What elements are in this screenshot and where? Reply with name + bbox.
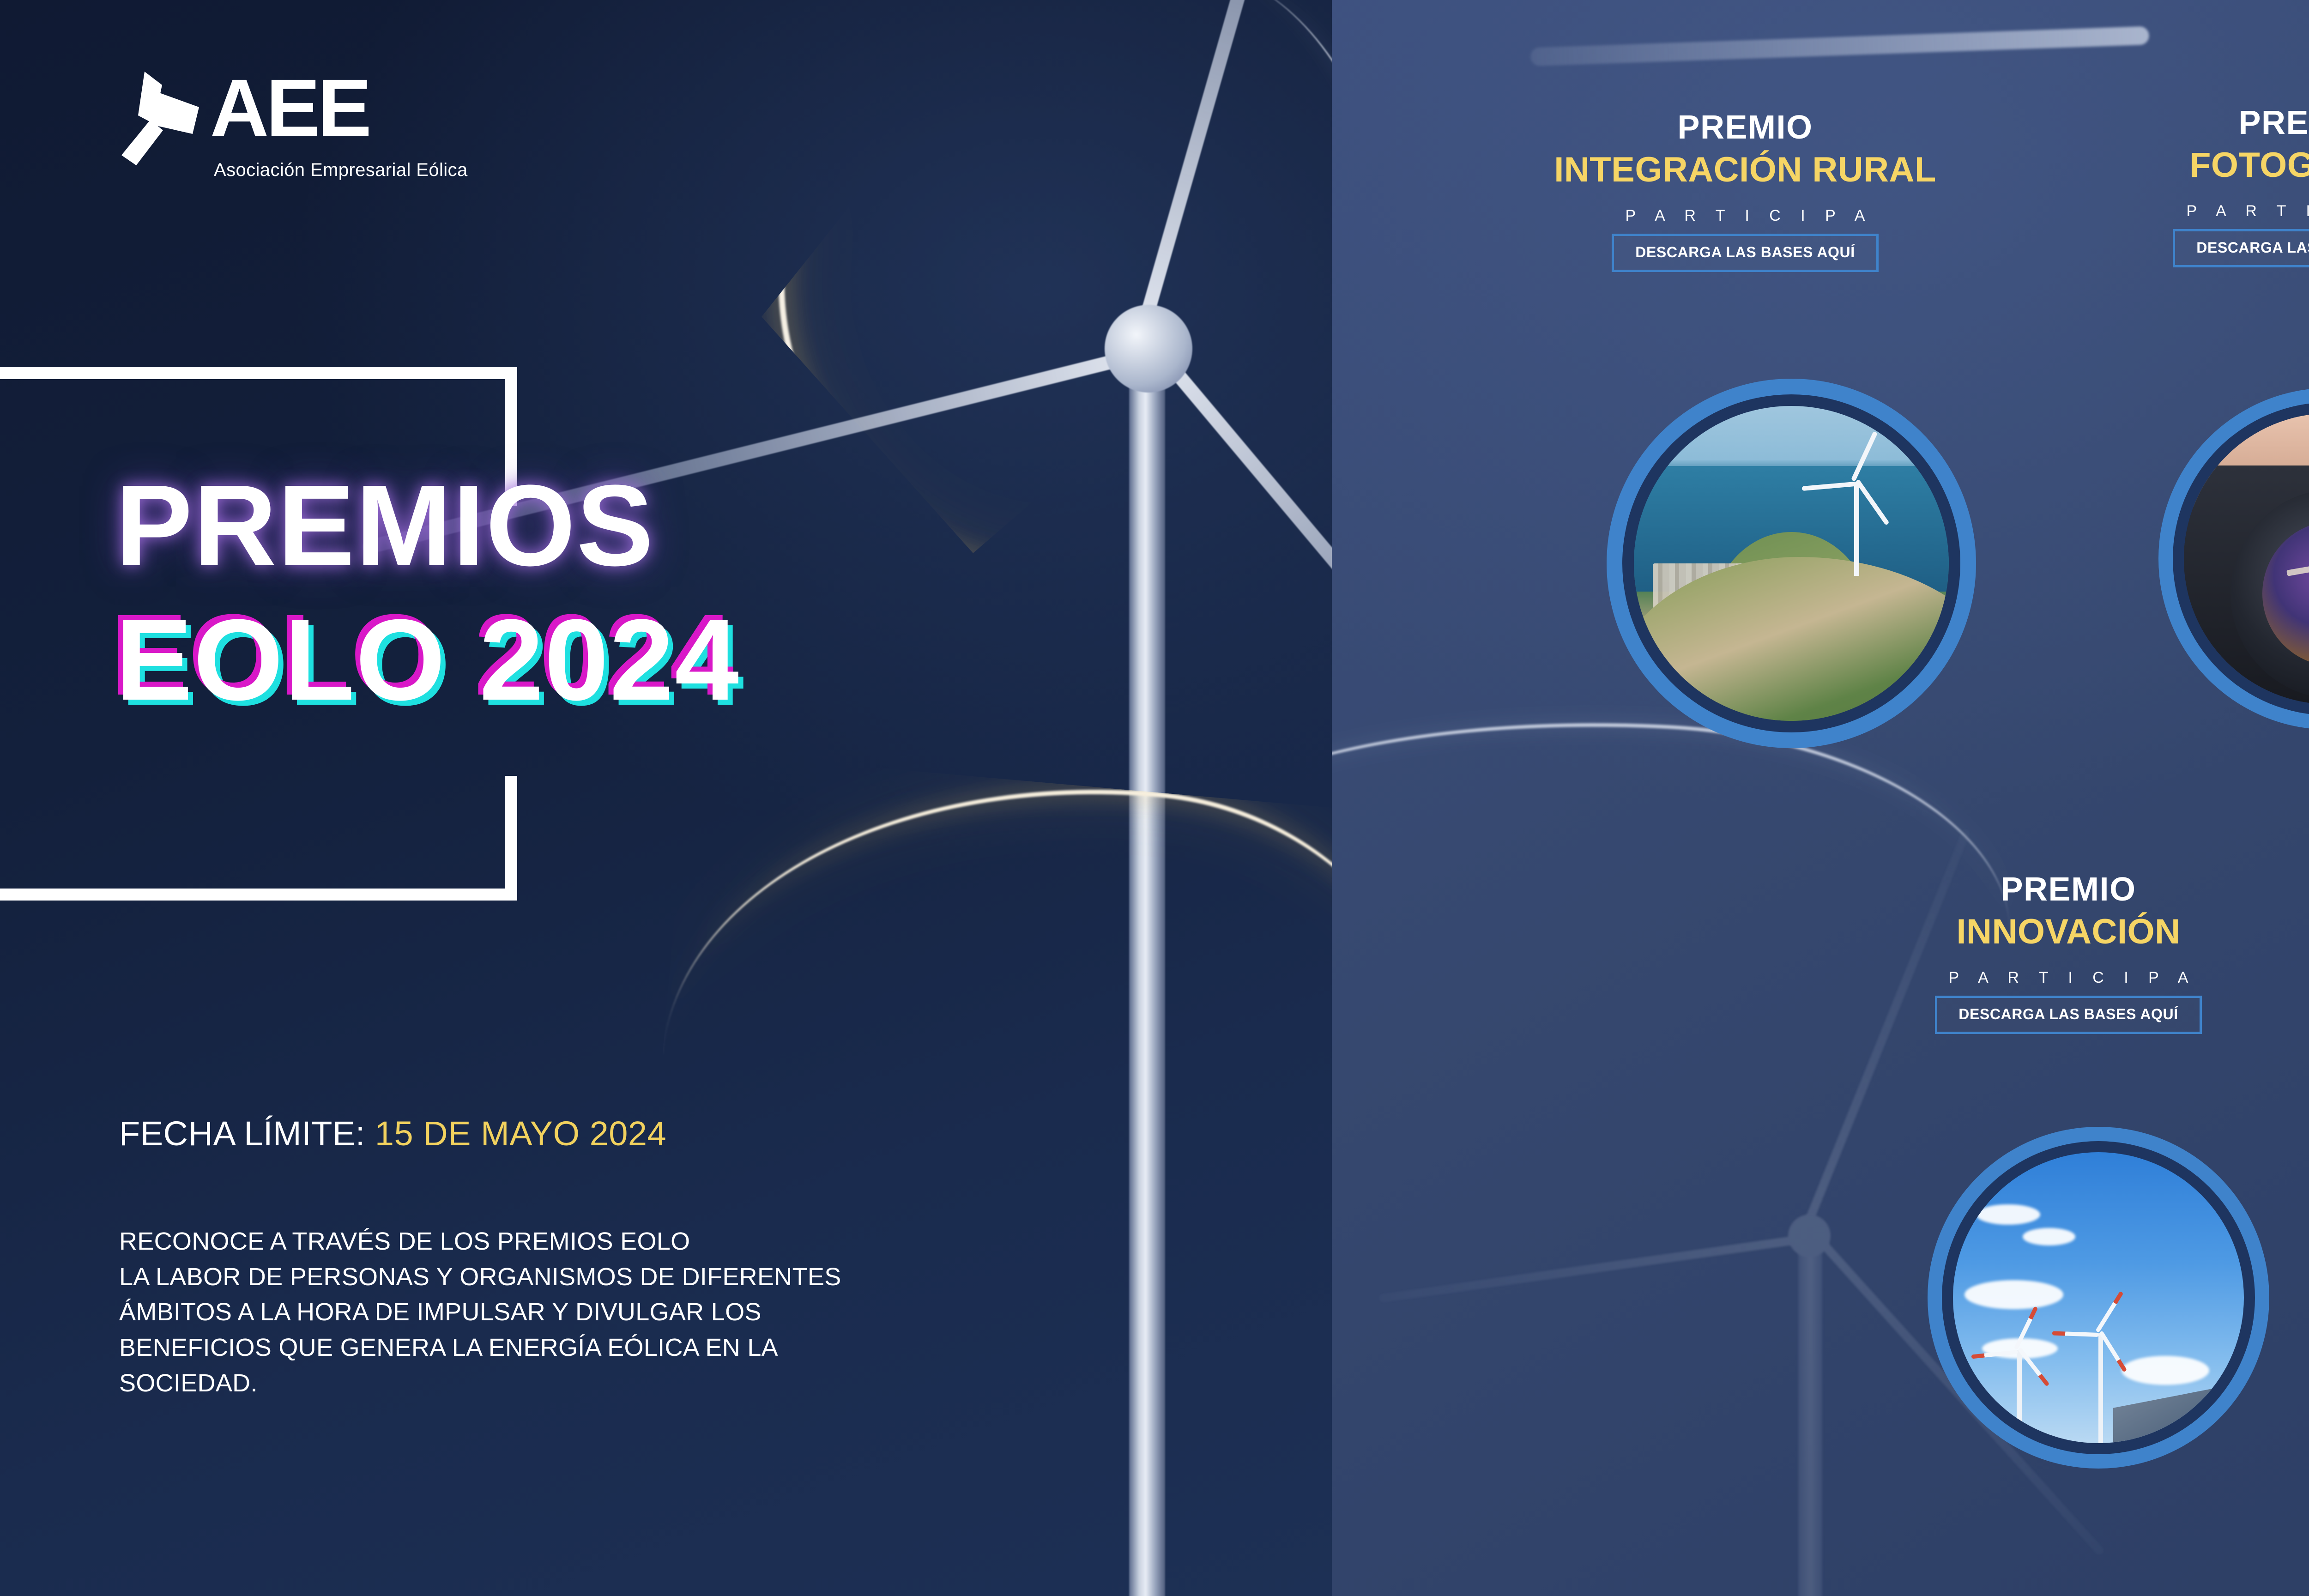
aee-logo[interactable]: AEE Asociación Empresarial Eólica — [118, 69, 469, 203]
awards-grid: PREMIO INTEGRACIÓN RURAL P A R T I C I P… — [1332, 0, 2309, 1596]
lightbulb-cloud-sky-photo — [1953, 1152, 2244, 1443]
award-image-fotografia[interactable] — [2158, 388, 2309, 730]
award-image-innovacion[interactable] — [1928, 1127, 2269, 1469]
description-line: LA LABOR DE PERSONAS Y ORGANISMOS DE DIF… — [119, 1259, 1195, 1295]
right-panel: PREMIO INTEGRACIÓN RURAL P A R T I C I P… — [1332, 0, 2309, 1596]
frame-top-edge — [0, 367, 517, 379]
award-name: FOTOGRAFÍA — [2045, 148, 2309, 183]
turbine-blade — [2099, 1330, 2127, 1372]
hero-headline: PREMIOS EOLO 2024 — [115, 466, 1131, 719]
participate-label: P A R T I C I P A — [2045, 203, 2309, 219]
turbine-tower — [1854, 482, 1859, 576]
download-bases-button[interactable]: DESCARGA LAS BASES AQUÍ — [1612, 234, 1878, 272]
poster-canvas: AEE Asociación Empresarial Eólica PREMIO… — [0, 0, 2309, 1596]
deadline-line: FECHA LÍMITE: 15 DE MAYO 2024 — [119, 1114, 666, 1153]
headline-line-1: PREMIOS — [115, 466, 1131, 584]
headline-line-2: EOLO 2024 — [115, 601, 1131, 719]
description-line: SOCIEDAD. — [119, 1366, 1195, 1401]
cloud — [2023, 1228, 2075, 1245]
logo-tagline: Asociación Empresarial Eólica — [214, 160, 468, 181]
cloud — [1976, 1204, 2040, 1225]
frame-right-edge-lower — [505, 776, 517, 901]
deadline-date: 15 DE MAYO 2024 — [375, 1114, 666, 1153]
description-line: BENEFICIOS QUE GENERA LA ENERGÍA EÓLICA … — [119, 1330, 1195, 1366]
lightbulb-base-cloud — [2133, 1298, 2187, 1345]
participate-label: P A R T I C I P A — [1484, 208, 2006, 224]
turbine-tower — [2098, 1333, 2103, 1444]
download-bases-button[interactable]: DESCARGA LAS BASES AQUÍ — [2173, 229, 2309, 267]
description-line: ÁMBITOS A LA HORA DE IMPULSAR Y DIVULGAR… — [119, 1294, 1195, 1330]
award-card-fotografia[interactable]: PREMIO FOTOGRAFÍA P A R T I C I P A DESC… — [2045, 106, 2309, 267]
award-card-integracion-rural[interactable]: PREMIO INTEGRACIÓN RURAL P A R T I C I P… — [1484, 111, 2006, 272]
award-prefix: PREMIO — [2045, 106, 2309, 139]
download-bases-button[interactable]: DESCARGA LAS BASES AQUÍ — [1935, 996, 2201, 1034]
frame-bottom-edge — [0, 889, 517, 901]
award-prefix: PREMIO — [1807, 873, 2309, 906]
award-card-innovacion[interactable]: PREMIO INNOVACIÓN P A R T I C I P A DESC… — [1807, 873, 2309, 1034]
award-name: INTEGRACIÓN RURAL — [1484, 152, 2006, 187]
description-line: RECONOCE A TRAVÉS DE LOS PREMIOS EOLO — [119, 1224, 1195, 1259]
coastal-village-wind-turbine-photo — [1634, 406, 1949, 721]
turbine-blade — [2052, 1331, 2099, 1337]
deadline-label: FECHA LÍMITE: — [119, 1114, 365, 1153]
turbine-blade — [2095, 1291, 2123, 1333]
camera-lens-closeup-photo — [2184, 413, 2309, 704]
award-image-integracion-rural[interactable] — [1607, 379, 1976, 748]
logo-wordmark: AEE — [210, 67, 369, 149]
award-prefix: PREMIO — [1484, 111, 2006, 144]
hero-description: RECONOCE A TRAVÉS DE LOS PREMIOS EOLO LA… — [119, 1224, 1195, 1401]
turbine-tower — [2017, 1350, 2021, 1443]
participate-label: P A R T I C I P A — [1807, 970, 2309, 985]
left-panel: AEE Asociación Empresarial Eólica PREMIO… — [0, 0, 1332, 1596]
award-name: INNOVACIÓN — [1807, 914, 2309, 949]
cloud — [1964, 1280, 2063, 1309]
wind-turbine-icon — [118, 69, 210, 169]
cloud — [2122, 1356, 2209, 1385]
